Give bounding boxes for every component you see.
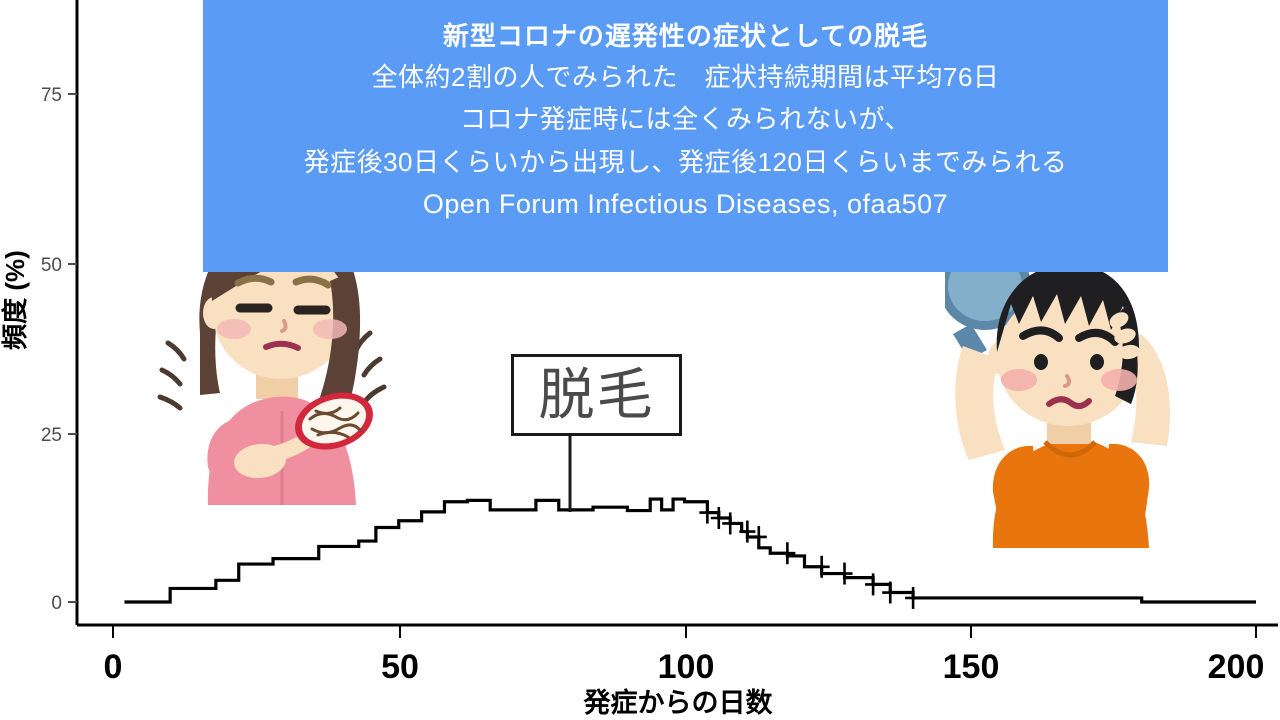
banner-line-4: 発症後30日くらいから出現し、発症後120日くらいまでみられる [213, 141, 1158, 183]
annotation-label: 脱毛 [539, 367, 655, 423]
motion-lines-right-icon [356, 333, 384, 400]
eye-left [1034, 354, 1048, 370]
summary-banner: 新型コロナの遅発性の症状としての脱毛 全体約2割の人でみられた 症状持続期間は平… [203, 0, 1168, 272]
slide-canvas: 0 25 50 75 頻度 (%) 0 50 100 150 200 発症からの… [0, 0, 1280, 720]
x-tick-label-200: 200 [1208, 648, 1265, 686]
y-axis-title: 頻度 (%) [0, 250, 30, 350]
censoring-tick-marks [699, 502, 921, 609]
x-tick-label-50: 50 [381, 648, 419, 686]
annotation-box-datsumou: 脱毛 [511, 354, 682, 436]
x-tick-label-150: 150 [943, 648, 1000, 686]
x-tick-label-100: 100 [658, 648, 715, 686]
banner-line-3: コロナ発症時には全くみられないが、 [213, 98, 1158, 140]
x-tick-label-0: 0 [104, 648, 123, 686]
man-with-mirror-illustration [945, 248, 1190, 548]
y-tick-label-75: 75 [41, 85, 62, 106]
blush-right [313, 319, 347, 339]
motion-lines-left-icon [160, 343, 184, 408]
blush-left [217, 319, 251, 339]
y-tick-label-0: 0 [51, 593, 62, 614]
blush-right [1101, 369, 1137, 391]
eye-right [1090, 354, 1104, 370]
y-tick-label-25: 25 [41, 425, 62, 446]
x-axis-title: 発症からの日数 [583, 688, 774, 718]
x-axis-ticks [113, 625, 1256, 638]
blush-left [1001, 369, 1037, 391]
banner-line-1: 新型コロナの遅発性の症状としての脱毛 [213, 16, 1158, 56]
banner-citation: Open Forum Infectious Diseases, ofaa507 [213, 183, 1158, 226]
banner-line-2: 全体約2割の人でみられた 症状持続期間は平均76日 [213, 56, 1158, 98]
y-tick-label-50: 50 [41, 255, 62, 276]
